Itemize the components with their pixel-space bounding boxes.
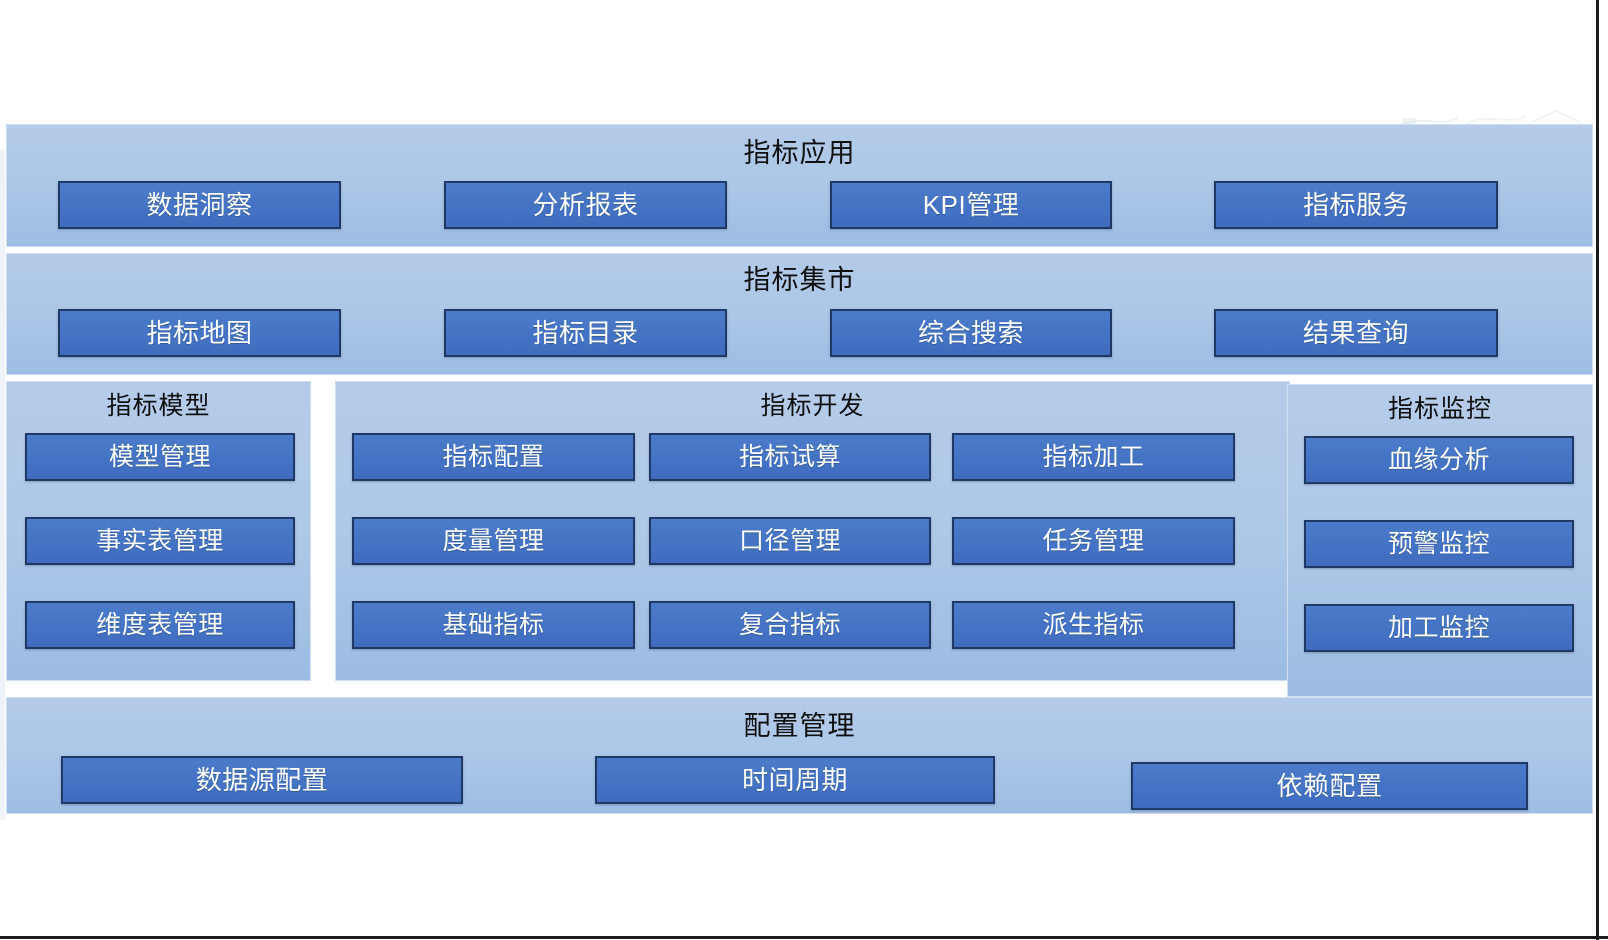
chip-indicator-map[interactable]: 指标地图: [58, 309, 341, 357]
chip-time-period[interactable]: 时间周期: [595, 756, 995, 804]
section-application: 指标应用 数据洞察 分析报表 KPI管理 指标服务: [6, 124, 1593, 247]
chip-task-management[interactable]: 任务管理: [952, 517, 1235, 565]
section-configuration: 配置管理 数据源配置 时间周期 依赖配置: [6, 697, 1593, 814]
chip-indicator-catalog[interactable]: 指标目录: [444, 309, 727, 357]
chip-comprehensive-search[interactable]: 综合搜索: [830, 309, 1112, 357]
section-development: 指标开发 指标配置 指标试算 指标加工 度量管理 口径管理 任务管理 基础指标 …: [335, 381, 1290, 681]
section-model: 指标模型 模型管理 事实表管理 维度表管理: [6, 381, 311, 681]
chip-processing-monitoring[interactable]: 加工监控: [1304, 604, 1574, 652]
page-left-edge-artifact: [0, 150, 5, 820]
chip-measure-management[interactable]: 度量管理: [352, 517, 635, 565]
chip-model-management[interactable]: 模型管理: [25, 433, 295, 481]
chip-dependency-configuration[interactable]: 依赖配置: [1131, 762, 1528, 810]
chip-composite-indicator[interactable]: 复合指标: [649, 601, 931, 649]
section-configuration-title: 配置管理: [7, 710, 1592, 742]
chip-kpi-management[interactable]: KPI管理: [830, 181, 1112, 229]
section-monitoring-title: 指标监控: [1288, 394, 1592, 424]
chip-result-query[interactable]: 结果查询: [1214, 309, 1498, 357]
chip-indicator-processing[interactable]: 指标加工: [952, 433, 1235, 481]
section-marketplace: 指标集市 指标地图 指标目录 综合搜索 结果查询: [6, 253, 1593, 375]
chip-dimension-table-management[interactable]: 维度表管理: [25, 601, 295, 649]
chip-datasource-configuration[interactable]: 数据源配置: [61, 756, 463, 804]
chip-caliber-management[interactable]: 口径管理: [649, 517, 931, 565]
chip-basic-indicator[interactable]: 基础指标: [352, 601, 635, 649]
chip-derived-indicator[interactable]: 派生指标: [952, 601, 1235, 649]
chip-data-insight[interactable]: 数据洞察: [58, 181, 341, 229]
chip-analysis-report[interactable]: 分析报表: [444, 181, 727, 229]
page-right-edge-artifact: [1596, 0, 1599, 940]
section-application-title: 指标应用: [7, 137, 1592, 169]
section-model-title: 指标模型: [7, 391, 310, 421]
section-marketplace-title: 指标集市: [7, 264, 1592, 296]
chip-indicator-configuration[interactable]: 指标配置: [352, 433, 635, 481]
section-development-title: 指标开发: [336, 391, 1289, 421]
section-monitoring: 指标监控 血缘分析 预警监控 加工监控: [1287, 384, 1593, 697]
chip-alert-monitoring[interactable]: 预警监控: [1304, 520, 1574, 568]
page-bottom-edge-artifact: [0, 936, 1608, 939]
chip-fact-table-management[interactable]: 事实表管理: [25, 517, 295, 565]
chip-indicator-trial-calculation[interactable]: 指标试算: [649, 433, 931, 481]
chip-indicator-service[interactable]: 指标服务: [1214, 181, 1498, 229]
architecture-diagram: 指标应用 数据洞察 分析报表 KPI管理 指标服务 指标集市 指标地图 指标目录…: [0, 0, 1608, 940]
chip-lineage-analysis[interactable]: 血缘分析: [1304, 436, 1574, 484]
